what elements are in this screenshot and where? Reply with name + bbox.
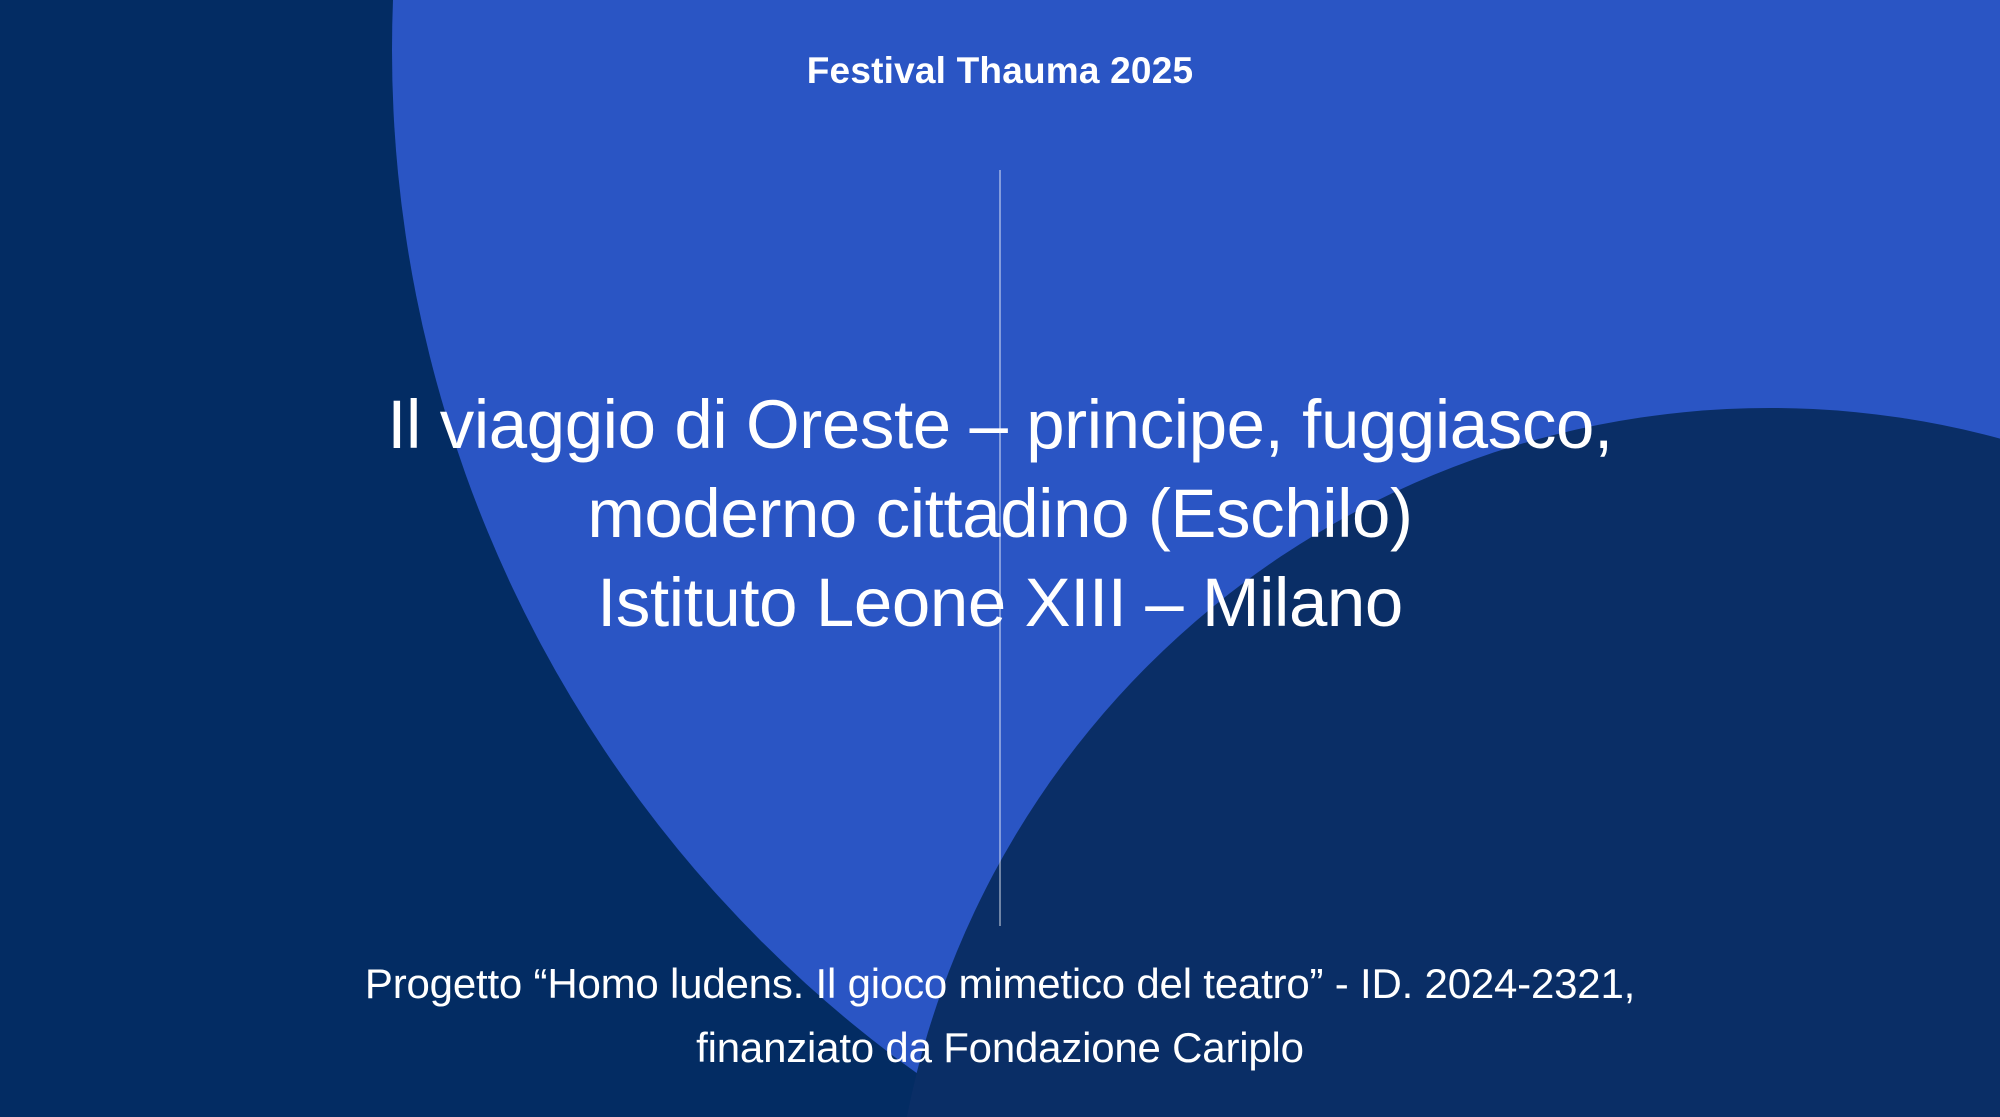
slide-title: Il viaggio di Oreste – principe, fuggias… bbox=[0, 380, 2000, 647]
title-line-3: Istituto Leone XIII – Milano bbox=[90, 558, 1910, 647]
caption-line-2: finanziato da Fondazione Cariplo bbox=[120, 1016, 1880, 1080]
slide-content: Festival Thauma 2025 Il viaggio di Orest… bbox=[0, 0, 2000, 1117]
title-slide: Festival Thauma 2025 Il viaggio di Orest… bbox=[0, 0, 2000, 1117]
title-line-2: moderno cittadino (Eschilo) bbox=[90, 469, 1910, 558]
funding-caption: Progetto “Homo ludens. Il gioco mimetico… bbox=[0, 952, 2000, 1080]
title-line-1: Il viaggio di Oreste – principe, fuggias… bbox=[90, 380, 1910, 469]
caption-line-1: Progetto “Homo ludens. Il gioco mimetico… bbox=[120, 952, 1880, 1016]
festival-label: Festival Thauma 2025 bbox=[0, 50, 2000, 92]
